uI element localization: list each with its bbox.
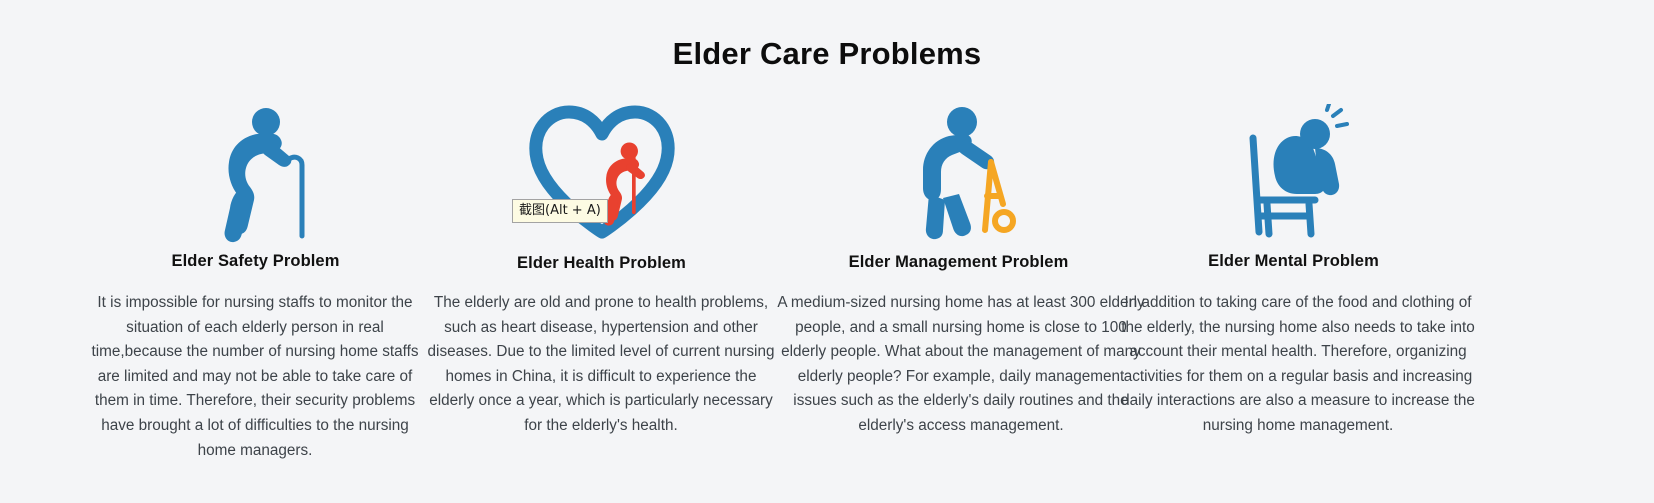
card-body-text: In addition to taking care of the food a… — [1112, 291, 1484, 439]
problem-card-elder-safety: Elder Safety Problem It is impossible fo… — [72, 104, 439, 463]
heart-with-elderly-person-icon — [418, 104, 785, 244]
problem-card-elder-management: Elder Management Problem A medium-sized … — [775, 104, 1142, 439]
elderly-person-with-walker-icon — [775, 104, 1142, 244]
screenshot-shortcut-tooltip: 截图(Alt + A) — [512, 199, 608, 223]
problem-cards-row: Elder Safety Problem It is impossible fo… — [0, 104, 1654, 484]
card-heading: Elder Safety Problem — [72, 252, 439, 271]
problem-card-elder-health: Elder Health Problem The elderly are old… — [418, 104, 785, 439]
card-heading: Elder Management Problem — [775, 253, 1142, 272]
page-title: Elder Care Problems — [0, 36, 1654, 72]
elder-care-problems-page: Elder Care Problems Elder Safety Problem… — [0, 0, 1654, 503]
card-body-text: It is impossible for nursing staffs to m… — [80, 291, 430, 463]
card-heading: Elder Mental Problem — [1110, 252, 1477, 271]
card-heading: Elder Health Problem — [418, 254, 785, 273]
sad-person-sitting-on-chair-icon — [1110, 104, 1477, 244]
card-body-text: The elderly are old and prone to health … — [423, 291, 779, 439]
problem-card-elder-mental: Elder Mental Problem In addition to taki… — [1110, 104, 1477, 439]
elderly-person-with-cane-icon — [72, 104, 439, 244]
card-body-text: A medium-sized nursing home has at least… — [777, 291, 1145, 439]
